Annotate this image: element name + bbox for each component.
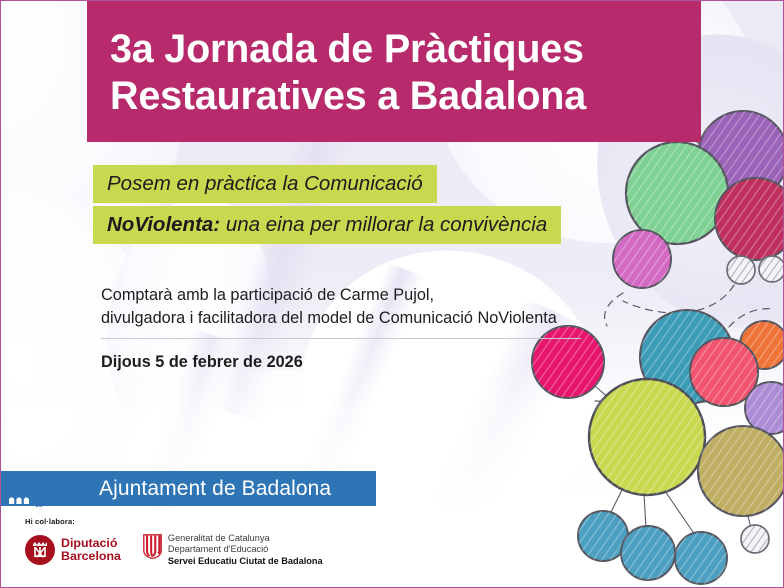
body-paragraph-line-1: Comptarà amb la participació de Carme Pu… xyxy=(101,284,661,307)
title-band: 3a Jornada de Pràctiques Restauratives a… xyxy=(87,1,701,142)
collaborators-label: Hi col·labora: xyxy=(25,517,323,526)
subtitle-line-2-emphasis: NoViolenta: xyxy=(107,213,220,236)
subtitle-block: Posem en pràctica la Comunicació NoViole… xyxy=(93,165,561,244)
diputacio-line-2: Barcelona xyxy=(61,550,121,564)
catalonia-four-bars-shield-icon xyxy=(143,534,162,559)
diputacio-barcelona-logo: Diputació Barcelona xyxy=(25,535,121,565)
collaborator-logos: Diputació Barcelona Generalitat de Catal… xyxy=(25,533,323,567)
page-title-line-2: Restauratives a Badalona xyxy=(87,73,701,120)
subtitle-line-2-rest: una eina per millorar la convivència xyxy=(220,213,547,236)
page-title-line-1: 3a Jornada de Pràctiques xyxy=(87,1,701,73)
generalitat-line-3: Servei Educatiu Ciutat de Badalona xyxy=(168,556,323,568)
ajuntament-label: Ajuntament de Badalona xyxy=(99,477,331,501)
generalitat-line-2: Departament d'Educació xyxy=(168,544,323,555)
diputacio-line-1: Diputació xyxy=(61,537,121,551)
poster-canvas: 3a Jornada de Pràctiques Restauratives a… xyxy=(0,0,784,588)
horizontal-divider xyxy=(101,338,581,339)
subtitle-line-1: Posem en pràctica la Comunicació xyxy=(93,165,437,203)
generalitat-logo: Generalitat de Catalunya Departament d'E… xyxy=(143,533,323,567)
diputacio-text: Diputació Barcelona xyxy=(61,537,121,564)
badalona-arches-crest-icon xyxy=(3,469,65,509)
body-copy: Comptarà amb la participació de Carme Pu… xyxy=(101,284,661,329)
generalitat-line-1: Generalitat de Catalunya xyxy=(168,533,323,544)
diputacio-barcelona-seal-icon xyxy=(25,535,55,565)
event-date: Dijous 5 de febrer de 2026 xyxy=(101,353,303,372)
generalitat-text: Generalitat de Catalunya Departament d'E… xyxy=(168,533,323,567)
subtitle-line-2: NoViolenta: una eina per millorar la con… xyxy=(93,206,561,244)
collaborators-block: Hi col·labora: xyxy=(25,517,323,567)
body-paragraph-line-2: divulgadora i facilitadora del model de … xyxy=(101,307,661,330)
